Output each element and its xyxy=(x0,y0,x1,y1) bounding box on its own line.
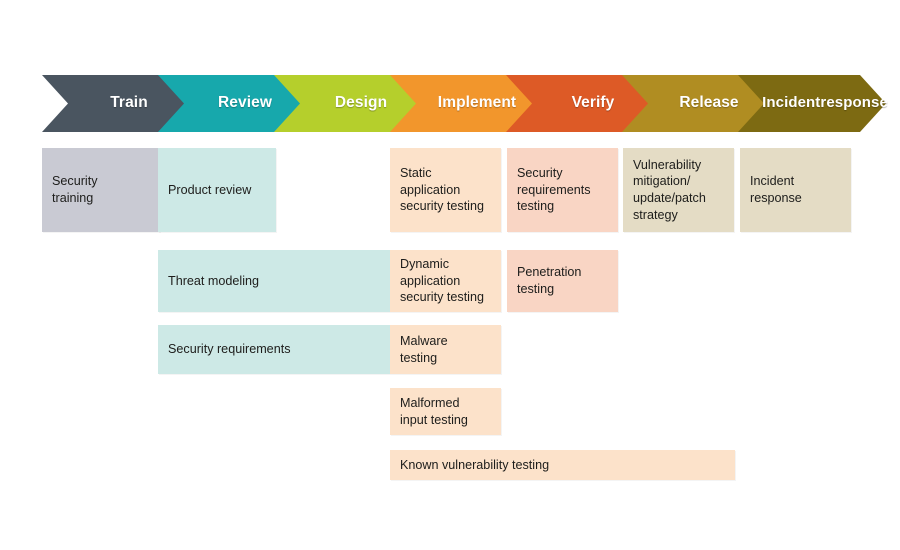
activity-text-line2: mitigation/ xyxy=(633,173,706,190)
activity-text-line1: Static xyxy=(400,165,484,182)
activity-box-text: Security requirements xyxy=(168,341,291,358)
activity-text: Known vulnerability testing xyxy=(400,457,549,474)
activity-box-incident-response[interactable]: Incidentresponse xyxy=(740,148,851,232)
activity-text-line4: strategy xyxy=(633,207,706,224)
activity-text: Product review xyxy=(168,182,251,199)
activity-text-line3: update/patch xyxy=(633,190,706,207)
activity-box-security-requirements-testing[interactable]: Securityrequirementstesting xyxy=(507,148,618,232)
activity-box-threat-modeling[interactable]: Threat modeling xyxy=(158,250,390,312)
activity-text-line1: Penetration xyxy=(517,264,581,281)
activity-box-text: Dynamicapplicationsecurity testing xyxy=(400,256,484,306)
activity-text-line1: Malformed xyxy=(400,395,468,412)
activity-box-product-review[interactable]: Product review xyxy=(158,148,276,232)
activity-text-line3: security testing xyxy=(400,198,484,215)
activity-text-line2: requirements xyxy=(517,182,591,199)
activity-box-text: Securitytraining xyxy=(52,173,98,206)
activity-text-line1: Incident xyxy=(750,173,802,190)
activity-box-text: Vulnerabilitymitigation/update/patchstra… xyxy=(633,157,706,223)
activity-box-text: Known vulnerability testing xyxy=(400,457,549,474)
activity-box-vulnerability-mitigation-strategy[interactable]: Vulnerabilitymitigation/update/patchstra… xyxy=(623,148,734,232)
activity-box-text: Malwaretesting xyxy=(400,333,448,366)
activity-box-security-requirements[interactable]: Security requirements xyxy=(158,325,390,374)
activity-box-text: Staticapplicationsecurity testing xyxy=(400,165,484,215)
activity-box-malformed-input-testing[interactable]: Malformedinput testing xyxy=(390,388,501,435)
activity-box-known-vulnerability-testing[interactable]: Known vulnerability testing xyxy=(390,450,735,480)
activity-box-static-application-security-testing[interactable]: Staticapplicationsecurity testing xyxy=(390,148,501,232)
chevron-shape xyxy=(738,75,886,132)
activity-text-line1: Dynamic xyxy=(400,256,484,273)
activity-text-line2: response xyxy=(750,190,802,207)
activity-text-line3: testing xyxy=(517,198,591,215)
activity-box-malware-testing[interactable]: Malwaretesting xyxy=(390,325,501,374)
activity-text-line1: Malware xyxy=(400,333,448,350)
activity-text-line1: Security xyxy=(52,173,98,190)
activity-box-text: Incidentresponse xyxy=(750,173,802,206)
activity-box-security-training[interactable]: Securitytraining xyxy=(42,148,160,232)
activity-text-line2: application xyxy=(400,273,484,290)
activity-text-line2: testing xyxy=(517,281,581,298)
sdlc-process-diagram: TrainReviewDesignImplementVerifyReleaseI… xyxy=(0,0,900,550)
activity-box-penetration-testing[interactable]: Penetrationtesting xyxy=(507,250,618,312)
activity-box-text: Product review xyxy=(168,182,251,199)
phase-chevron-incident[interactable] xyxy=(738,75,886,132)
activity-text-line2: input testing xyxy=(400,412,468,429)
activity-text-line2: application xyxy=(400,182,484,199)
activity-box-text: Malformedinput testing xyxy=(400,395,468,428)
activity-text-line3: security testing xyxy=(400,289,484,306)
activity-box-text: Threat modeling xyxy=(168,273,259,290)
activity-text: Security requirements xyxy=(168,341,291,358)
activity-text-line1: Vulnerability xyxy=(633,157,706,174)
activity-text: Threat modeling xyxy=(168,273,259,290)
activity-box-dynamic-application-security-testing[interactable]: Dynamicapplicationsecurity testing xyxy=(390,250,501,312)
activity-text-line2: training xyxy=(52,190,98,207)
activity-box-text: Penetrationtesting xyxy=(517,264,581,297)
activity-box-text: Securityrequirementstesting xyxy=(517,165,591,215)
activity-text-line1: Security xyxy=(517,165,591,182)
activity-text-line2: testing xyxy=(400,350,448,367)
